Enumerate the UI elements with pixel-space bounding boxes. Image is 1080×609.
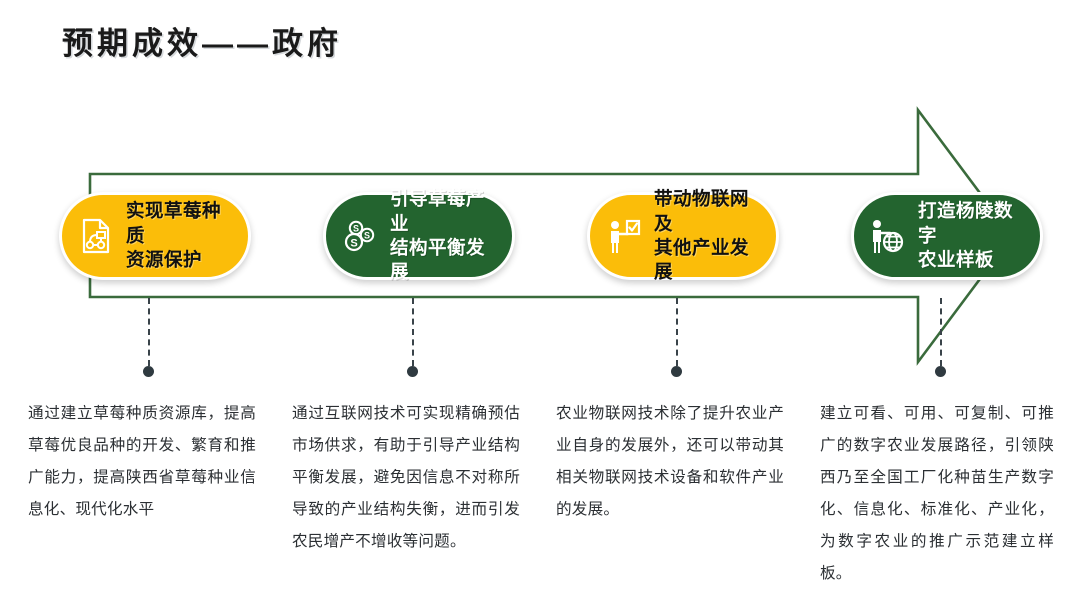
milestone-label-2: 引导草莓产业 结构平衡发展 — [390, 187, 496, 285]
milestone-label-3: 带动物联网及 其他产业发展 — [654, 187, 760, 285]
svg-text:S: S — [364, 231, 370, 241]
connector-dot-3 — [671, 366, 682, 377]
milestone-pill-1[interactable]: 实现草莓种质 资源保护 — [59, 192, 251, 280]
connector-line-3 — [676, 298, 678, 366]
description-text-4: 建立可看、可用、可复制、可推广的数字农业发展路径，引领陕西乃至全国工厂化种苗生产… — [820, 398, 1054, 590]
page-title: 预期成效——政府 — [62, 18, 342, 63]
connector-dot-4 — [935, 366, 946, 377]
person-checklist-icon — [604, 214, 644, 258]
svg-text:S: S — [353, 224, 359, 234]
connector-line-4 — [940, 298, 942, 366]
connector-line-1 — [148, 298, 150, 366]
milestone-pill-3[interactable]: 带动物联网及 其他产业发展 — [587, 192, 779, 280]
description-text-1: 通过建立草莓种质资源库，提高草莓优良品种的开发、繁育和推广能力，提高陕西省草莓种… — [28, 398, 256, 526]
connector-dot-1 — [143, 366, 154, 377]
description-text-2: 通过互联网技术可实现精确预估市场供求，有助于引导产业结构平衡发展，避免因信息不对… — [292, 398, 520, 558]
milestone-pill-2[interactable]: S S S 引导草莓产业 结构平衡发展 — [323, 192, 515, 280]
coins-money-icon: S S S — [340, 214, 380, 258]
milestone-pill-4[interactable]: 打造杨陵数字 农业样板 — [851, 192, 1043, 280]
description-text-3: 农业物联网技术除了提升农业产业自身的发展外，还可以带动其相关物联网技术设备和软件… — [556, 398, 784, 526]
connector-dot-2 — [407, 366, 418, 377]
milestone-label-1: 实现草莓种质 资源保护 — [126, 199, 232, 272]
milestone-label-4: 打造杨陵数字 农业样板 — [918, 199, 1024, 272]
svg-text:S: S — [350, 238, 357, 250]
person-globe-icon — [868, 214, 908, 258]
document-network-icon — [76, 214, 116, 258]
connector-line-2 — [412, 298, 414, 366]
